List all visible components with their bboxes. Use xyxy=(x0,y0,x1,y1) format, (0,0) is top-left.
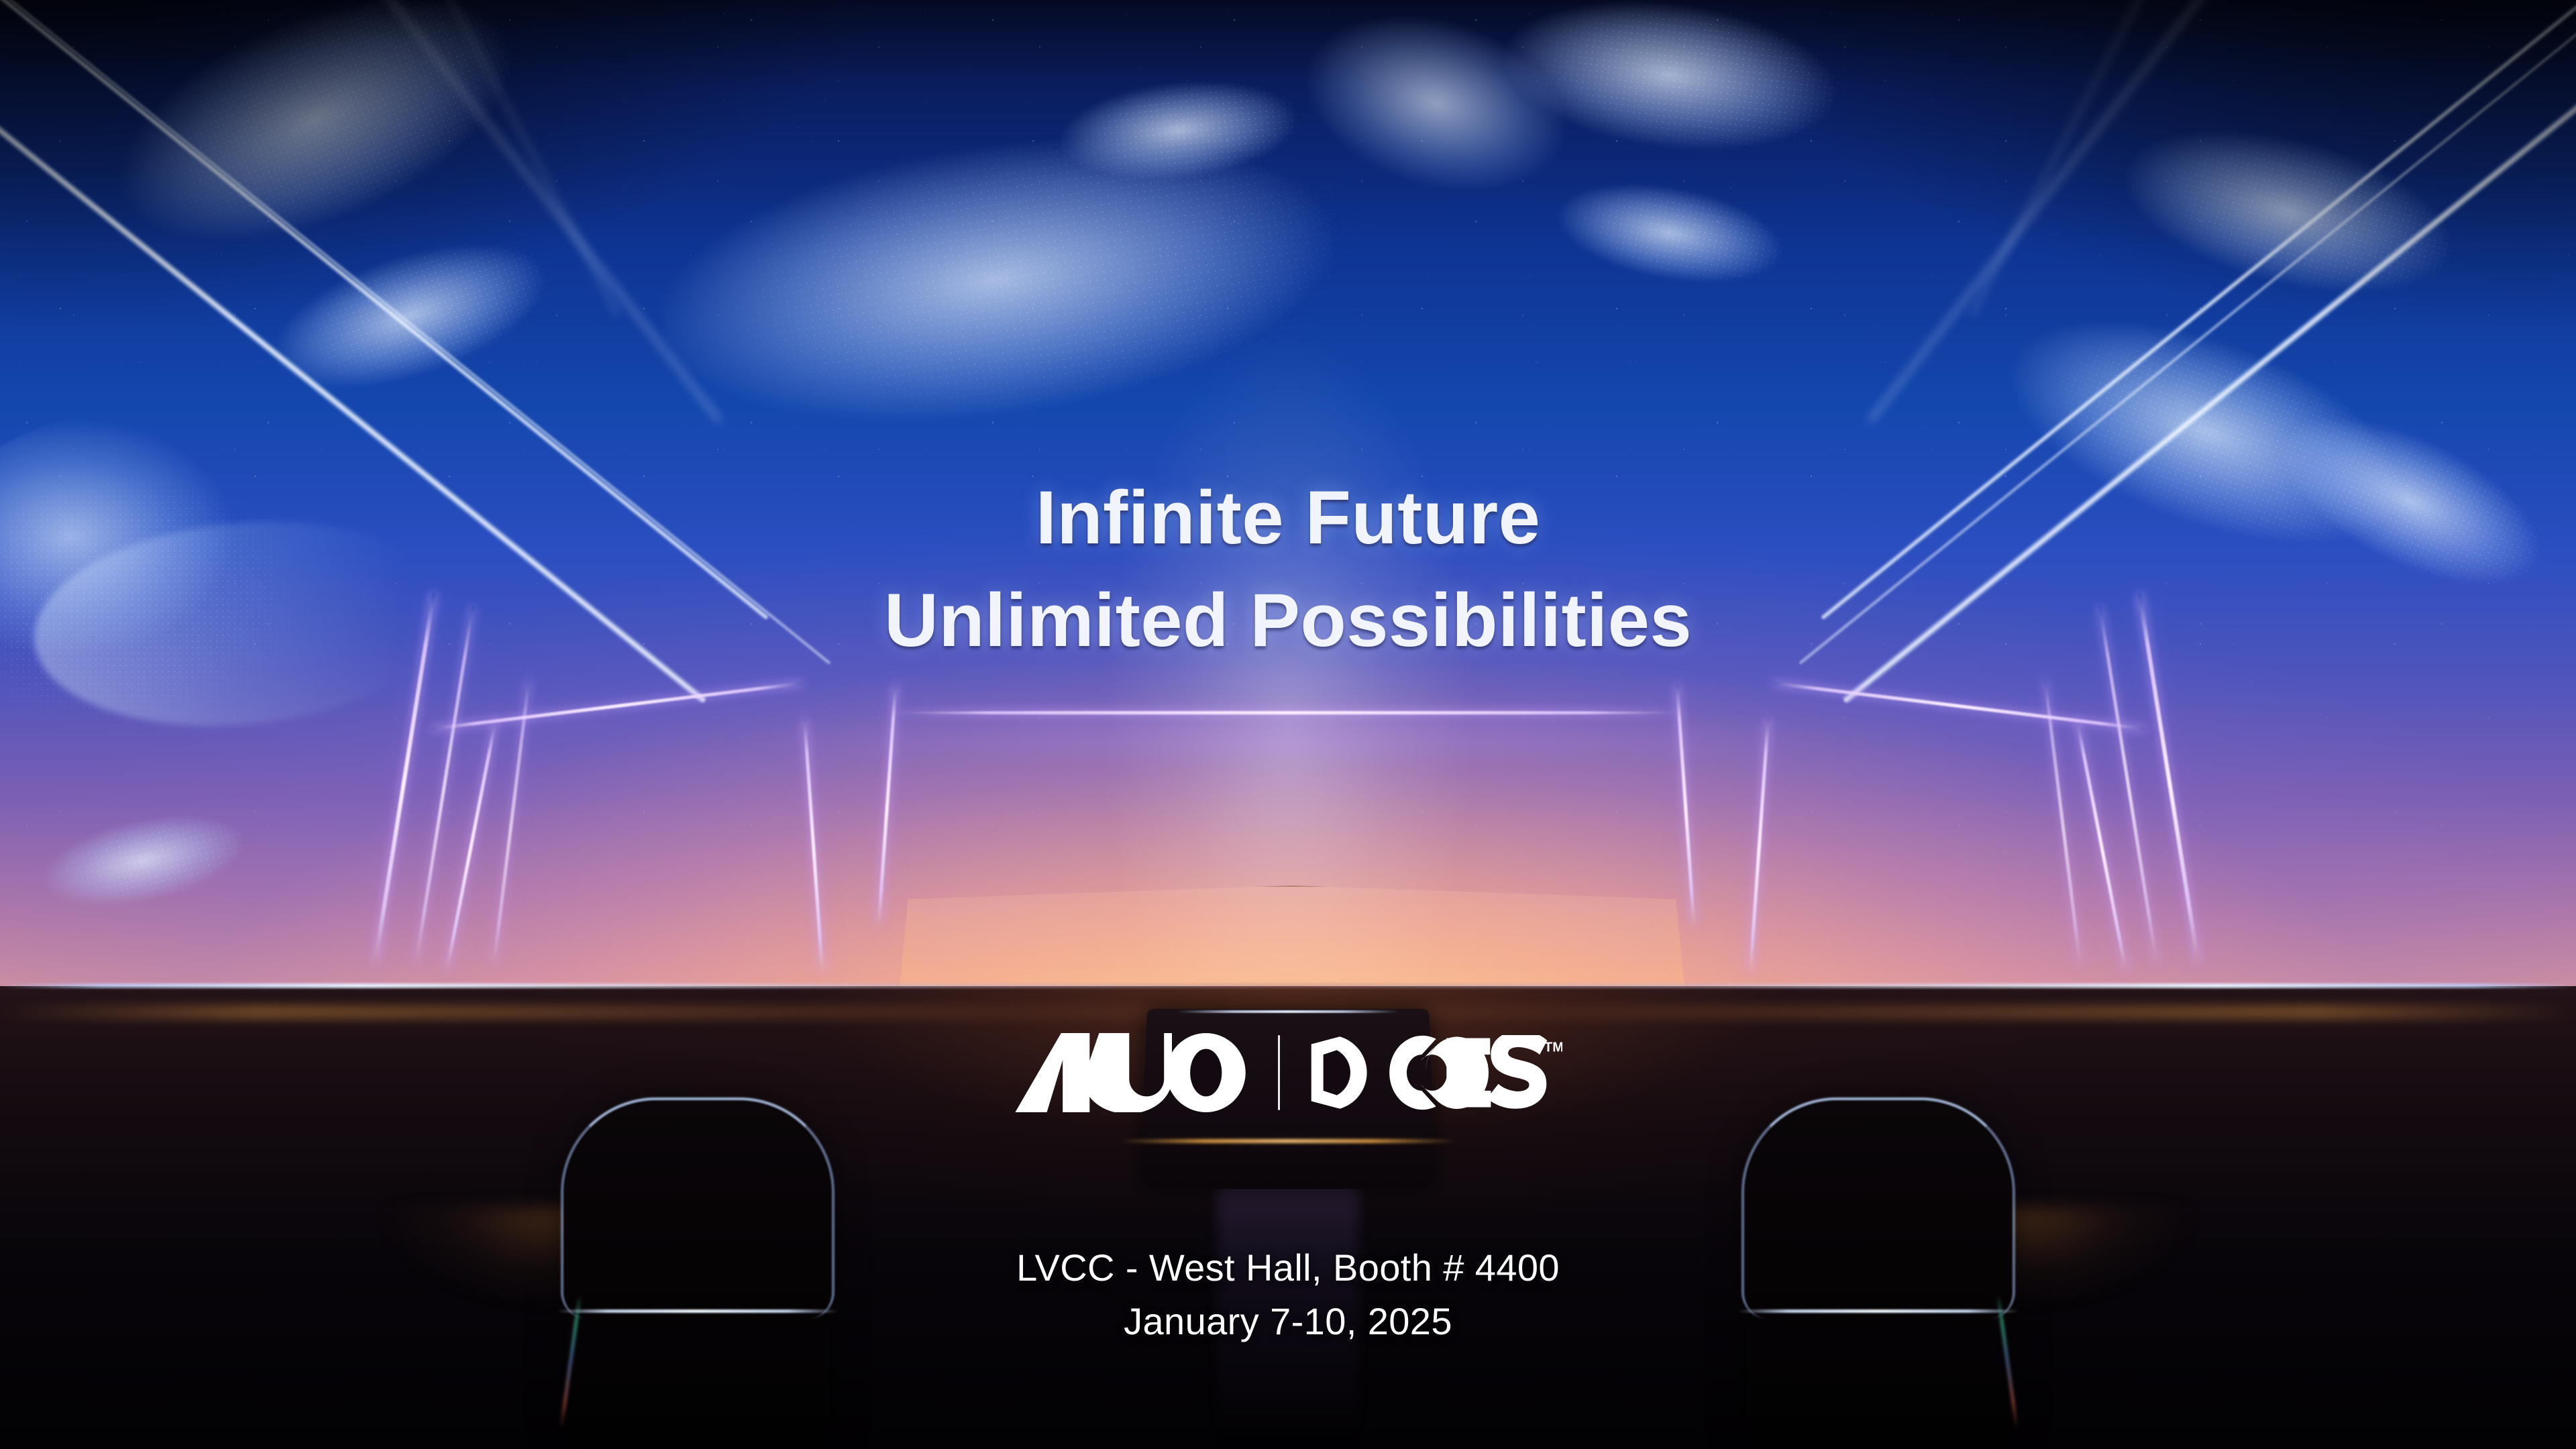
ces-trademark: TM xyxy=(1544,1040,1562,1055)
console-amber-trim xyxy=(1120,1139,1456,1143)
key-visual-poster: Infinite Future Unlimited Possibilities xyxy=(0,0,2576,1449)
event-info: LVCC - West Hall, Booth # 4400 January 7… xyxy=(0,1241,2576,1348)
headline-line-1: Infinite Future xyxy=(1036,476,1541,559)
dashboard-top-highlight xyxy=(0,983,2576,988)
logo-lockup: AUO CES TM xyxy=(0,1033,2576,1112)
ces-logo: CES TM xyxy=(1307,1035,1562,1110)
windscreen-surround-top xyxy=(892,711,1684,714)
roof-rim-glow xyxy=(483,678,2093,751)
event-venue: LVCC - West Hall, Booth # 4400 xyxy=(1016,1246,1560,1289)
headline: Infinite Future Unlimited Possibilities xyxy=(0,466,2576,672)
auo-logo: AUO xyxy=(1014,1033,1251,1112)
event-date: January 7-10, 2025 xyxy=(0,1295,2576,1348)
console-light-strip xyxy=(1177,1010,1399,1013)
headline-line-2: Unlimited Possibilities xyxy=(0,569,2576,672)
logo-divider xyxy=(1278,1035,1280,1110)
